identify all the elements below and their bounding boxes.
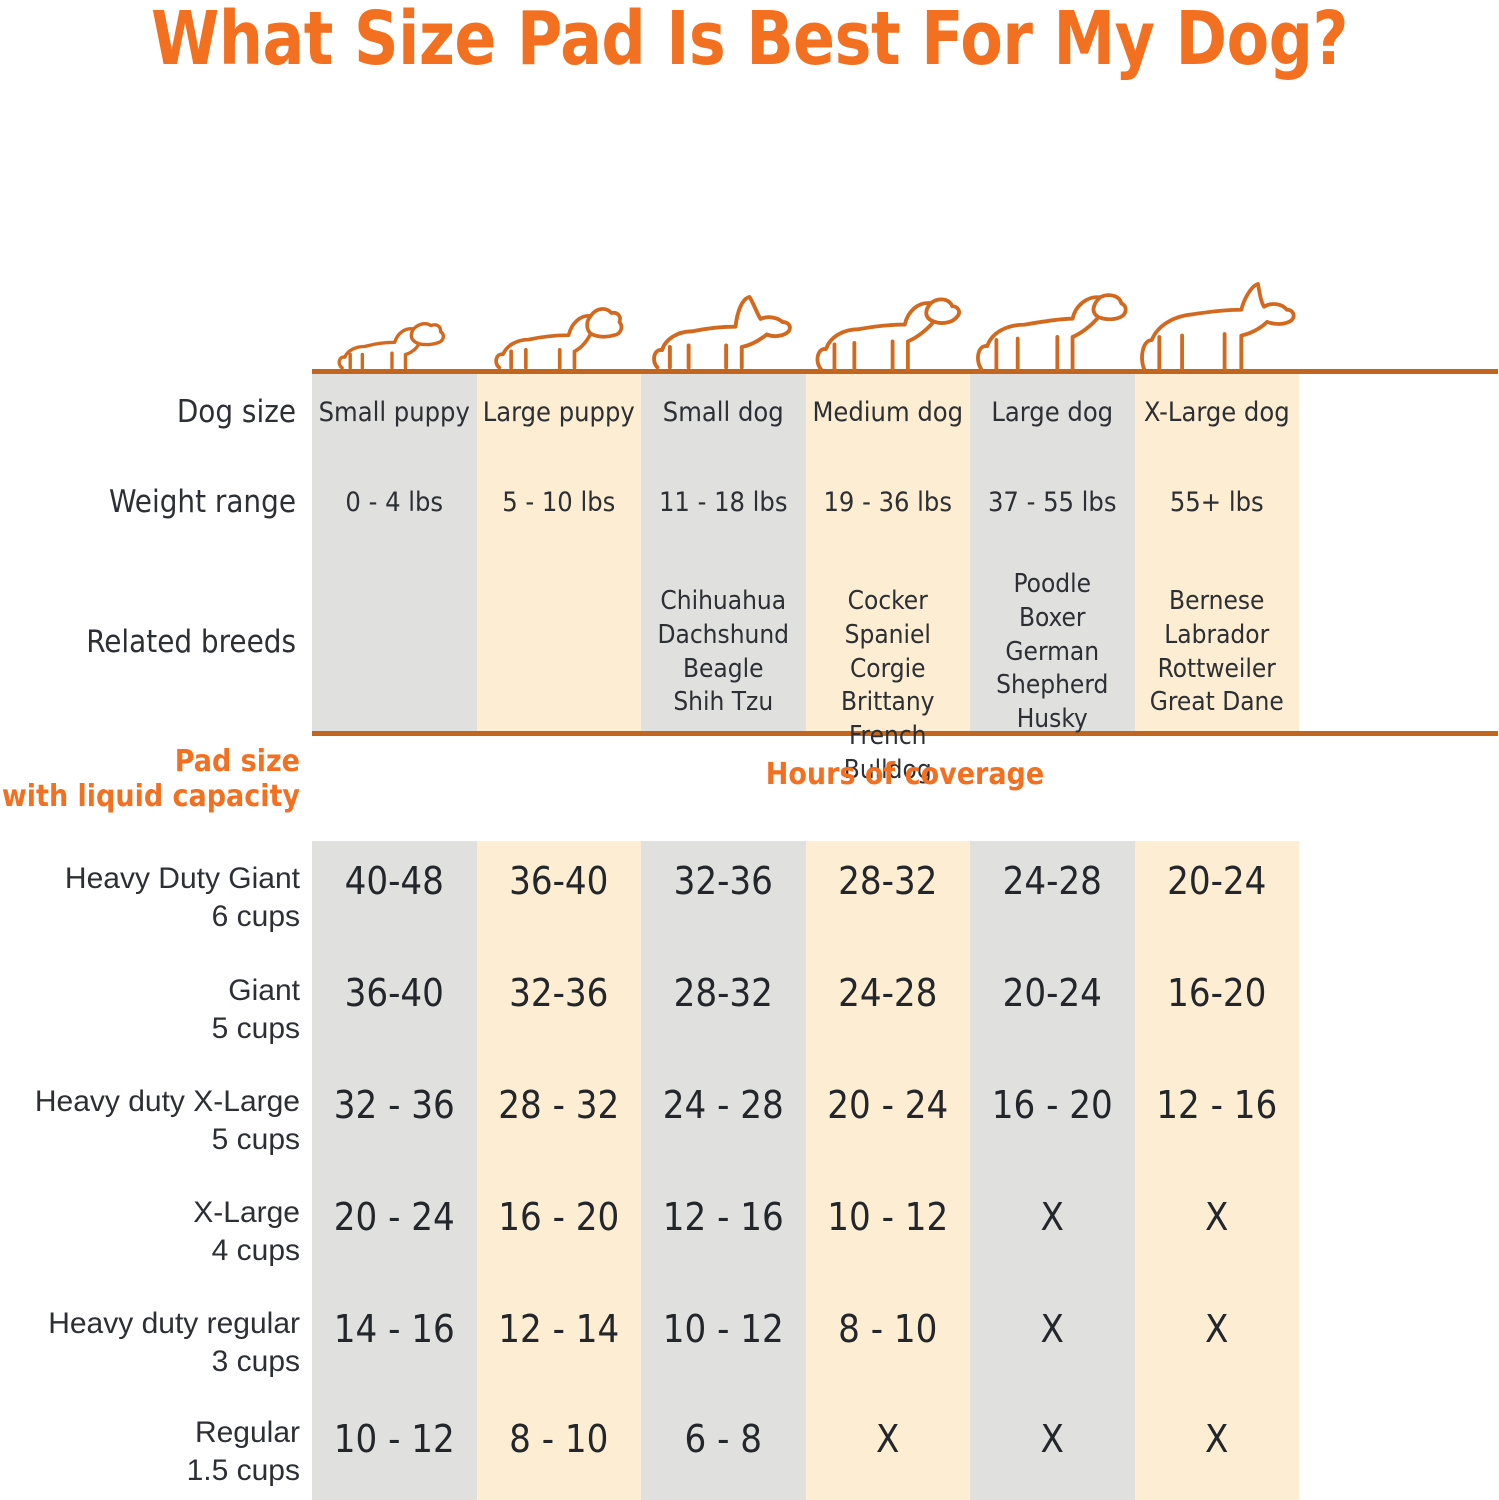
pad-name: Giant: [0, 972, 300, 1010]
hours-cell-r4-c5: X: [1135, 1310, 1300, 1348]
breed-item: Husky: [970, 703, 1135, 737]
pad-size-heading: Pad size with liquid capacity: [0, 745, 300, 815]
hours-cell-r4-c1: 12 - 14: [477, 1310, 642, 1348]
breed-item: Chihuahua: [641, 585, 806, 619]
small-dog-icon: [641, 254, 806, 372]
breed-item: Shih Tzu: [641, 686, 806, 720]
hours-cell-r1-c2: 28-32: [641, 974, 806, 1012]
hours-cell-r0-c1: 36-40: [477, 862, 642, 900]
breed-item: German: [970, 636, 1135, 670]
cell-weight-range-2: 11 - 18 lbs: [641, 487, 806, 519]
hours-cell-r3-c4: X: [970, 1198, 1135, 1236]
breed-item: Rottweiler: [1135, 653, 1300, 687]
x-large-dog-icon: [1135, 172, 1300, 372]
pad-row-label-4: Heavy duty regular3 cups: [0, 1305, 300, 1380]
breed-item: Boxer: [970, 602, 1135, 636]
row-label-related-breeds: Related breeds: [0, 624, 296, 661]
breed-item: Poodle: [970, 568, 1135, 602]
hours-cell-r1-c4: 20-24: [970, 974, 1135, 1012]
breed-item: Great Dane: [1135, 686, 1300, 720]
row-label-weight-range: Weight range: [0, 484, 296, 521]
pad-size-heading-line1: Pad size: [0, 745, 300, 780]
cell-weight-range-0: 0 - 4 lbs: [312, 487, 477, 519]
hours-cell-r5-c0: 10 - 12: [312, 1420, 477, 1458]
cell-dog-size-0: Small puppy: [312, 397, 477, 429]
pad-capacity: 3 cups: [0, 1343, 300, 1381]
hours-cell-r5-c1: 8 - 10: [477, 1420, 642, 1458]
cell-weight-range-3: 19 - 36 lbs: [806, 487, 971, 519]
hours-cell-r0-c5: 20-24: [1135, 862, 1300, 900]
hours-cell-r4-c4: X: [970, 1310, 1135, 1348]
pad-name: Heavy duty X-Large: [0, 1083, 300, 1121]
breed-item: Labrador: [1135, 619, 1300, 653]
hours-cell-r5-c2: 6 - 8: [641, 1420, 806, 1458]
breed-item: Cocker Spaniel: [806, 585, 971, 653]
large-puppy-icon: [477, 272, 642, 372]
pad-capacity: 5 cups: [0, 1010, 300, 1048]
pad-capacity: 5 cups: [0, 1121, 300, 1159]
pad-name: Heavy duty regular: [0, 1305, 300, 1343]
cell-breeds-5: BerneseLabradorRottweilerGreat Dane: [1135, 585, 1300, 720]
cell-dog-size-3: Medium dog: [806, 397, 971, 429]
hours-cell-r2-c4: 16 - 20: [970, 1086, 1135, 1124]
small-puppy-icon: [312, 294, 477, 372]
hours-cell-r4-c3: 8 - 10: [806, 1310, 971, 1348]
breed-item: Brittany: [806, 686, 971, 720]
medium-dog-icon: [806, 244, 971, 372]
size-chart-table: Dog size Weight range Related breeds Sma…: [0, 0, 1499, 1500]
hours-cell-r1-c3: 24-28: [806, 974, 971, 1012]
pad-name: X-Large: [0, 1194, 300, 1232]
hours-cell-r1-c1: 32-36: [477, 974, 642, 1012]
breed-item: Bernese: [1135, 585, 1300, 619]
hours-cell-r3-c0: 20 - 24: [312, 1198, 477, 1236]
cell-dog-size-5: X-Large dog: [1135, 397, 1300, 429]
cell-dog-size-1: Large puppy: [477, 397, 642, 429]
hours-cell-r2-c5: 12 - 16: [1135, 1086, 1300, 1124]
cell-breeds-4: PoodleBoxerGermanShepherdHusky: [970, 568, 1135, 737]
hours-cell-r2-c2: 24 - 28: [641, 1086, 806, 1124]
pad-size-heading-line2: with liquid capacity: [0, 780, 300, 815]
hours-cell-r2-c3: 20 - 24: [806, 1086, 971, 1124]
breed-item: Corgie: [806, 653, 971, 687]
cell-weight-range-1: 5 - 10 lbs: [477, 487, 642, 519]
hours-cell-r3-c1: 16 - 20: [477, 1198, 642, 1236]
hours-cell-r5-c3: X: [806, 1420, 971, 1458]
pad-name: Regular: [0, 1414, 300, 1452]
breed-item: Shepherd: [970, 669, 1135, 703]
hours-cell-r4-c0: 14 - 16: [312, 1310, 477, 1348]
breed-item: Beagle: [641, 653, 806, 687]
pad-capacity: 1.5 cups: [0, 1452, 300, 1490]
hours-cell-r4-c2: 10 - 12: [641, 1310, 806, 1348]
cell-dog-size-2: Small dog: [641, 397, 806, 429]
hours-cell-r1-c0: 36-40: [312, 974, 477, 1012]
cell-breeds-2: ChihuahuaDachshundBeagleShih Tzu: [641, 585, 806, 720]
pad-row-label-3: X-Large4 cups: [0, 1194, 300, 1269]
large-dog-icon: [970, 232, 1135, 372]
hours-cell-r0-c4: 24-28: [970, 862, 1135, 900]
pad-capacity: 4 cups: [0, 1232, 300, 1270]
pad-name: Heavy Duty Giant: [0, 860, 300, 898]
hours-cell-r0-c0: 40-48: [312, 862, 477, 900]
hours-of-coverage-heading: Hours of coverage: [312, 758, 1498, 793]
pad-row-label-5: Regular1.5 cups: [0, 1414, 300, 1489]
breed-item: Dachshund: [641, 619, 806, 653]
hours-cell-r2-c1: 28 - 32: [477, 1086, 642, 1124]
hours-cell-r5-c4: X: [970, 1420, 1135, 1458]
pad-row-label-0: Heavy Duty Giant6 cups: [0, 860, 300, 935]
cell-weight-range-4: 37 - 55 lbs: [970, 487, 1135, 519]
cell-dog-size-4: Large dog: [970, 397, 1135, 429]
hours-cell-r2-c0: 32 - 36: [312, 1086, 477, 1124]
hours-cell-r3-c5: X: [1135, 1198, 1300, 1236]
cell-weight-range-5: 55+ lbs: [1135, 487, 1300, 519]
hours-cell-r3-c3: 10 - 12: [806, 1198, 971, 1236]
hours-cell-r1-c5: 16-20: [1135, 974, 1300, 1012]
pad-capacity: 6 cups: [0, 898, 300, 936]
pad-row-label-1: Giant5 cups: [0, 972, 300, 1047]
dog-silhouette-row: [312, 150, 1498, 372]
row-label-dog-size: Dog size: [0, 394, 296, 431]
pad-row-label-2: Heavy duty X-Large5 cups: [0, 1083, 300, 1158]
hours-cell-r3-c2: 12 - 16: [641, 1198, 806, 1236]
hours-cell-r0-c3: 28-32: [806, 862, 971, 900]
hours-cell-r0-c2: 32-36: [641, 862, 806, 900]
hours-cell-r5-c5: X: [1135, 1420, 1300, 1458]
